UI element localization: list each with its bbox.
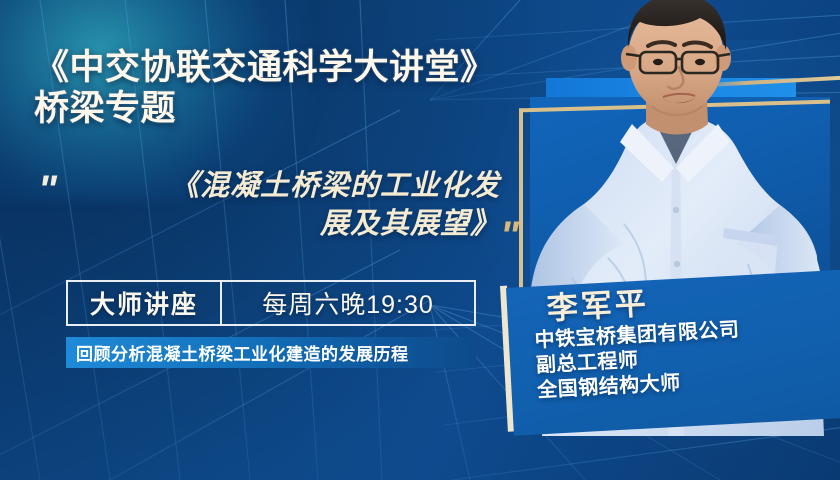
lecture-schedule-label: 每周六晚19:30 bbox=[222, 282, 474, 324]
subtitle-block: " 《混凝土桥梁的工业化发 展及其展望》 " bbox=[36, 168, 536, 268]
poster-canvas: 《中交协联交通科学大讲堂》 桥梁专题 " 《混凝土桥梁的工业化发 展及其展望》 … bbox=[0, 0, 840, 480]
quote-open-icon: " bbox=[38, 170, 55, 210]
poster-subtitle: 《混凝土桥梁的工业化发 展及其展望》 bbox=[80, 168, 500, 243]
poster-headline: 《中交协联交通科学大讲堂》 桥梁专题 bbox=[34, 48, 554, 129]
speaker-info-text: 李军平 中铁宝桥集团有限公司 副总工程师 全国钢结构大师 bbox=[532, 274, 840, 404]
lecture-info-box: 大师讲座 每周六晚19:30 bbox=[66, 280, 476, 326]
quote-close-icon: " bbox=[500, 216, 517, 256]
poster-tagline-bar: 回顾分析混凝土桥梁工业化建造的发展历程 bbox=[66, 337, 476, 368]
lecture-type-label: 大师讲座 bbox=[68, 282, 220, 324]
